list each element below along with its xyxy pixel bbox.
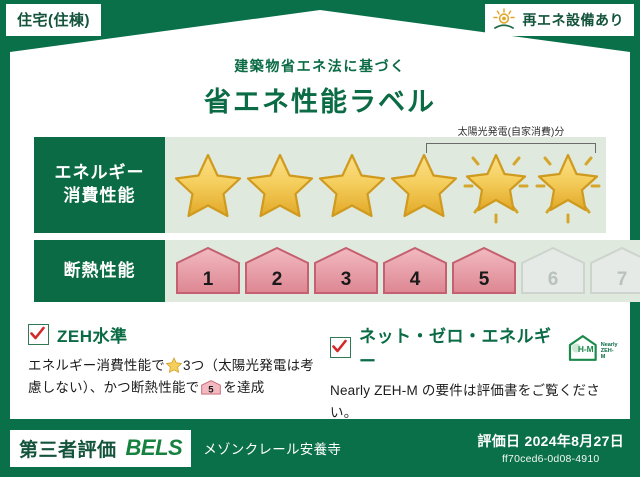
evaluation-date: 評価日 2024年8月27日 [477, 431, 624, 451]
sun-solar-icon [491, 8, 517, 32]
star-rating [165, 142, 606, 228]
star-icon [317, 142, 387, 228]
insulation-grade-badge: 2 [244, 246, 310, 296]
insulation-grade-badge: 7 [589, 246, 640, 296]
insulation-grade-badge: 6 [520, 246, 586, 296]
bels-jp-label: 第三者評価 [19, 435, 117, 462]
grade-number: 5 [451, 269, 517, 291]
zeh-m-logo-sub: Nearly ZEH-M [601, 342, 618, 361]
grade-number: 2 [244, 269, 310, 291]
grade-number: 6 [520, 269, 586, 291]
evaluation-id: ff70ced6-0d08-4910 [477, 453, 624, 465]
star-icon-solar [461, 142, 531, 228]
criteria-nze-title: ネット・ゼロ・エネルギー [359, 322, 555, 372]
star-icon-solar [533, 142, 603, 228]
insulation-grade-badge: 5 [451, 246, 517, 296]
grade-number: 7 [589, 269, 640, 291]
star-icon [245, 142, 315, 228]
criteria-zeh-block: ZEH水準 エネルギー消費性能で3つ（太陽光発電は考慮しない）、かつ断熱性能で5… [28, 322, 318, 400]
bels-badge: 第三者評価 BELS [10, 430, 191, 467]
svg-text:H-M: H-M [578, 343, 594, 353]
insulation-performance-label: 断熱性能 [34, 240, 165, 302]
criteria-zeh-header: ZEH水準 [28, 322, 318, 347]
solar-bracket [426, 143, 596, 153]
building-name: メゾンクレール安養寺 [203, 438, 341, 458]
renewable-equipment-badge: 再エネ設備あり [485, 4, 635, 36]
inline-star-icon [166, 357, 182, 373]
solar-generation-note: 太陽光発電(自家消費)分 [422, 123, 600, 138]
insulation-grade-badge: 3 [313, 246, 379, 296]
check-icon [30, 326, 45, 341]
insulation-grade-badge: 1 [175, 246, 241, 296]
title-block: 建築物省エネ法に基づく 省エネ性能ラベル [0, 56, 640, 119]
star-icon [389, 142, 459, 228]
energy-label-root: 住宅(住棟) 再エネ設備あり 建築物省エネ法に基づく 省エネ性能ラベル [0, 0, 640, 477]
grade-number: 4 [382, 269, 448, 291]
zeh-m-logo: H-M Nearly ZEH-M [567, 334, 618, 361]
page-title: 省エネ性能ラベル [0, 80, 640, 119]
criteria-nze-body: Nearly ZEH-M の要件は評価書をご覧ください。 [330, 380, 618, 425]
insulation-grades-panel: 1 2 3 4 [165, 240, 640, 302]
insulation-grade-scale: 1 2 3 4 [165, 246, 640, 296]
criteria-nze-header: ネット・ゼロ・エネルギー H-M Nearly ZEH-M [330, 322, 618, 372]
bels-en-label: BELS [126, 435, 183, 461]
energy-stars-panel: 太陽光発電(自家消費)分 [165, 137, 606, 233]
grade-number: 3 [313, 269, 379, 291]
check-icon [332, 339, 347, 354]
criteria-nze-block: ネット・ゼロ・エネルギー H-M Nearly ZEH-M Nearly ZEH… [330, 322, 618, 425]
label-subtitle: 建築物省エネ法に基づく [0, 56, 640, 76]
insulation-performance-row: 断熱性能 1 2 [34, 240, 606, 302]
grade-number: 1 [175, 269, 241, 291]
footer-bar: 第三者評価 BELS メゾンクレール安養寺 評価日 2024年8月27日 ff7… [0, 419, 640, 477]
energy-performance-row: エネルギー 消費性能 太陽光発電(自家消費)分 [34, 137, 606, 233]
renewable-badge-label: 再エネ設備あり [523, 10, 625, 30]
svg-text:5: 5 [209, 385, 215, 395]
criteria-zeh-title: ZEH水準 [57, 322, 128, 347]
criteria-zeh-body: エネルギー消費性能で3つ（太陽光発電は考慮しない）、かつ断熱性能で5を達成 [28, 355, 318, 400]
checkbox-zeh[interactable] [28, 324, 49, 345]
evaluation-info: 評価日 2024年8月27日 ff70ced6-0d08-4910 [477, 431, 624, 465]
insulation-grade-badge: 4 [382, 246, 448, 296]
star-icon [173, 142, 243, 228]
zeh-m-house-icon: H-M [567, 334, 599, 361]
energy-performance-label: エネルギー 消費性能 [34, 137, 165, 233]
house-type-tag: 住宅(住棟) [6, 4, 101, 36]
inline-grade-icon: 5 [201, 380, 221, 395]
checkbox-net-zero-energy[interactable] [330, 337, 351, 358]
